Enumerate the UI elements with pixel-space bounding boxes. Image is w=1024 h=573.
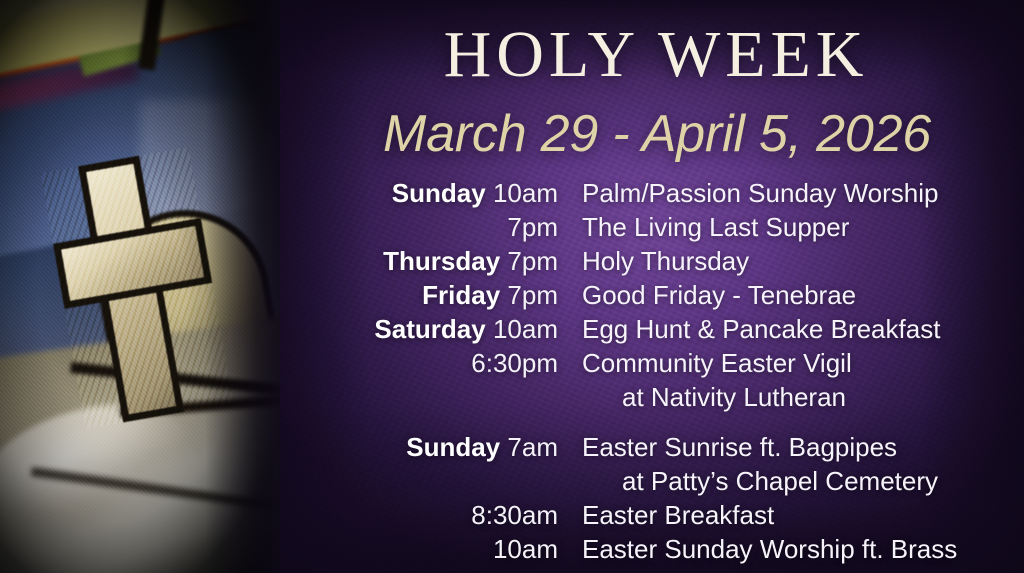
schedule-event-label: Holy Thursday (582, 244, 749, 278)
schedule-event-label: Community Easter Vigil (582, 346, 852, 380)
schedule-when: Sunday7am (300, 430, 558, 464)
schedule-row: 6:30pmCommunity Easter Vigil (300, 346, 1024, 380)
schedule-row: Sunday10amPalm/Passion Sunday Worship (300, 176, 1024, 210)
schedule-time-label: 7pm (507, 212, 558, 242)
schedule-when: Thursday7pm (300, 244, 558, 278)
schedule-row: at Nativity Lutheran (300, 380, 1024, 414)
schedule-row: 8:30amEaster Breakfast (300, 498, 1024, 532)
schedule-day-label: Friday (422, 280, 500, 310)
schedule-row: Thursday7pmHoly Thursday (300, 244, 1024, 278)
schedule-row: at Patty’s Chapel Cemetery (300, 464, 1024, 498)
schedule-event-label: Palm/Passion Sunday Worship (582, 176, 938, 210)
schedule-day-label: Sunday (406, 432, 500, 462)
date-range-subtitle: March 29 - April 5, 2026 (300, 108, 1014, 160)
schedule-time-label: 10am (493, 178, 558, 208)
schedule-when: 6:30pm (300, 346, 558, 380)
schedule-event-continuation: at Patty’s Chapel Cemetery (622, 464, 938, 498)
schedule-day-label: Sunday (392, 178, 486, 208)
schedule-when: 8:30am (300, 498, 558, 532)
schedule-when: 7pm (300, 210, 558, 244)
schedule-time-label: 7am (507, 432, 558, 462)
schedule-event-label: Good Friday - Tenebrae (582, 278, 856, 312)
schedule-event-label: Easter Breakfast (582, 498, 774, 532)
stained-glass-image (0, 0, 300, 573)
schedule-when: Saturday10am (300, 312, 558, 346)
schedule-list: Sunday10amPalm/Passion Sunday Worship7pm… (300, 176, 1024, 566)
schedule-time-label: 7pm (507, 280, 558, 310)
schedule-when: Sunday10am (300, 176, 558, 210)
schedule-when: Friday7pm (300, 278, 558, 312)
schedule-event-label: Egg Hunt & Pancake Breakfast (582, 312, 940, 346)
schedule-time-label: 10am (493, 534, 558, 564)
schedule-time-label: 7pm (507, 246, 558, 276)
schedule-row: 7pmThe Living Last Supper (300, 210, 1024, 244)
schedule-event-continuation: at Nativity Lutheran (622, 380, 846, 414)
schedule-time-label: 8:30am (471, 500, 558, 530)
schedule-when: 10am (300, 532, 558, 566)
page-title: HOLY WEEK (300, 22, 1012, 88)
schedule-day-label: Thursday (383, 246, 500, 276)
schedule-row: 10amEaster Sunday Worship ft. Brass (300, 532, 1024, 566)
schedule-time-label: 10am (493, 314, 558, 344)
schedule-event-label: The Living Last Supper (582, 210, 849, 244)
schedule-event-label: Easter Sunday Worship ft. Brass (582, 532, 957, 566)
schedule-day-label: Saturday (374, 314, 485, 344)
schedule-row: Sunday7amEaster Sunrise ft. Bagpipes (300, 430, 1024, 464)
schedule-event-label: Easter Sunrise ft. Bagpipes (582, 430, 897, 464)
schedule-spacer (300, 414, 1024, 430)
schedule-time-label: 6:30pm (471, 348, 558, 378)
schedule-row: Friday7pmGood Friday - Tenebrae (300, 278, 1024, 312)
holy-week-poster: HOLY WEEK March 29 - April 5, 2026 Sunda… (0, 0, 1024, 573)
poster-content: HOLY WEEK March 29 - April 5, 2026 Sunda… (300, 0, 1024, 573)
schedule-row: Saturday10amEgg Hunt & Pancake Breakfast (300, 312, 1024, 346)
